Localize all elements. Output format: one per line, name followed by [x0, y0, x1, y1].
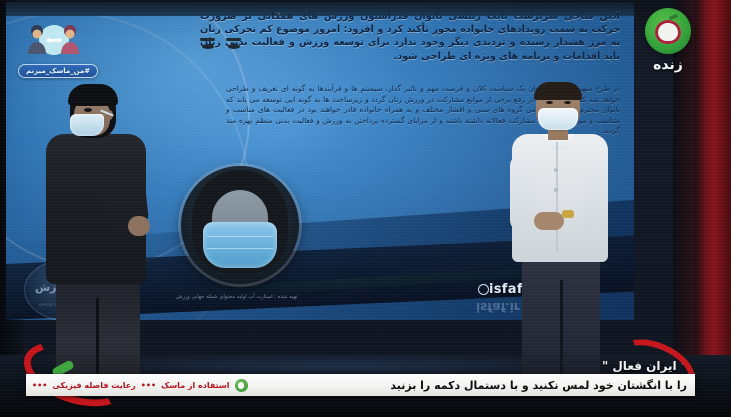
presenter-hands	[534, 212, 564, 230]
apple-body-icon	[655, 20, 681, 44]
presenter-arm-left	[510, 154, 536, 232]
presenter-button-2	[554, 188, 558, 192]
photo-eye-left	[202, 44, 214, 49]
presenter-person-right	[508, 84, 612, 384]
ticker-health-right: رعایت فاصله فیزیکی	[52, 381, 135, 390]
guest-hair	[68, 84, 118, 106]
presenter-arm-right	[582, 154, 608, 232]
masked-woman-photo	[181, 166, 299, 284]
production-credit: تهیه شده : استارت آپ اولیه محتوای شبکه ج…	[176, 294, 297, 300]
guest-eye	[84, 108, 92, 112]
hashtag-badge: #من_ماسک_میزنم	[18, 64, 98, 78]
photo-eyebrow-right	[226, 38, 241, 41]
guest-face-mask	[70, 114, 104, 136]
social-distancing-icon	[24, 18, 84, 62]
presenter-leg-split	[560, 280, 563, 384]
ticker-apple-icon	[235, 379, 248, 392]
channel-apple-icon	[645, 8, 691, 54]
ticker-main-text: را با انگشتان خود لمس نکنید و با دستمال …	[254, 379, 695, 392]
ticker-separator-2: •••	[32, 381, 47, 390]
news-ticker-bar: را با انگشتان خود لمس نکنید و با دستمال …	[26, 374, 695, 396]
live-label: زنده	[633, 57, 703, 73]
presenter-eye-right	[564, 101, 571, 104]
ticker-separator-1: •••	[141, 381, 156, 390]
tv-broadcast-frame: آذین ساجی سرپرست نایب رییسی بانوان فدراس…	[0, 0, 731, 417]
ticker-health-message: استفاده از ماسک ••• رعایت فاصله فیزیکی •…	[26, 379, 254, 392]
presenter-hair	[534, 82, 582, 100]
photo-eyebrow-left	[200, 38, 215, 41]
photo-surgical-mask	[203, 222, 277, 268]
photo-eye-right	[228, 44, 240, 49]
presenter-placket	[556, 142, 558, 252]
live-badge: زنده	[633, 8, 703, 73]
presenter-wristwatch	[562, 210, 574, 218]
site-watermark-mark	[478, 284, 489, 295]
presenter-button-1	[554, 168, 558, 172]
ticker-health-left: استفاده از ماسک	[161, 381, 229, 390]
news-headline-text: آذین ساجی سرپرست نایب رییسی بانوان فدراس…	[200, 10, 620, 63]
presenter-face-mask	[538, 108, 578, 130]
presenter-eye-left	[546, 101, 553, 104]
guest-hand	[128, 216, 150, 236]
